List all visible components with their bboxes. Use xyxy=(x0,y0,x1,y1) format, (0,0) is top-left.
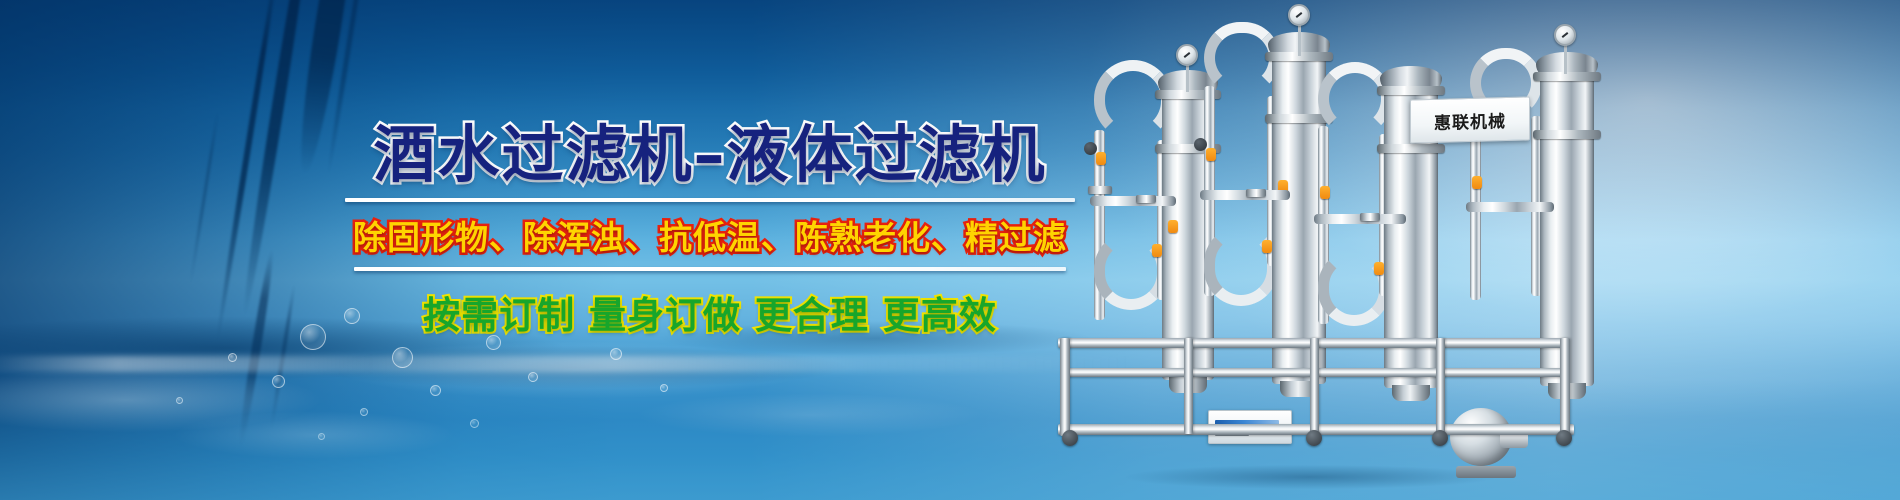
product-banner: 酒水过滤机–液体过滤机 除固形物、除浑浊、抗低温、陈熟老化、精过滤 按需订制 量… xyxy=(0,0,1900,500)
divider-line-bottom xyxy=(354,267,1066,271)
divider-line-top xyxy=(345,198,1075,202)
banner-headline: 酒水过滤机–液体过滤机 xyxy=(330,122,1090,188)
pressure-gauge xyxy=(1176,44,1198,66)
machine-base-frame xyxy=(1058,338,1582,458)
machine-nameplate-text: 惠联机械 xyxy=(1434,107,1506,134)
pressure-gauge xyxy=(1554,24,1576,46)
banner-text-block: 酒水过滤机–液体过滤机 除固形物、除浑浊、抗低温、陈熟老化、精过滤 按需订制 量… xyxy=(330,122,1090,339)
banner-tagline: 按需订制 量身订做 更合理 更高效 xyxy=(330,285,1090,339)
pressure-gauge xyxy=(1288,4,1310,26)
machine-nameplate: 惠联机械 xyxy=(1410,96,1530,143)
banner-subline: 除固形物、除浑浊、抗低温、陈熟老化、精过滤 xyxy=(330,211,1090,259)
filtration-machine: 惠联机械 xyxy=(1040,0,1600,500)
